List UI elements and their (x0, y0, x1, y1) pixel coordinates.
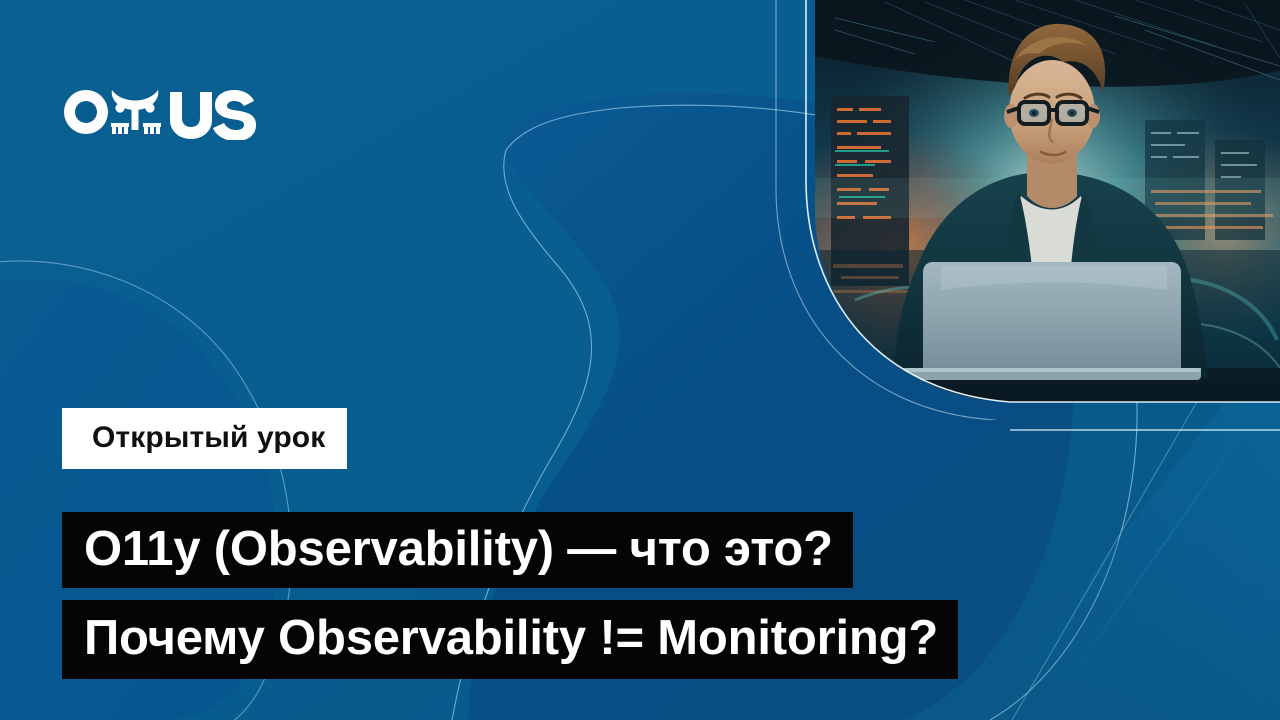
hero-photo-artwork (815, 0, 1280, 402)
text-stack: Открытый урок O11y (Observability) — что… (62, 408, 1232, 679)
otus-logo-owl-mark (111, 90, 161, 134)
title-line-1: O11y (Observability) — что это? (62, 512, 853, 588)
slide-root: Открытый урок O11y (Observability) — что… (0, 0, 1280, 720)
otus-logo (62, 68, 262, 140)
otus-logo-letter-o (64, 90, 108, 134)
hero-photo (815, 0, 1280, 402)
title-line-2: Почему Observability != Monitoring? (62, 600, 958, 679)
otus-logo-letter-u (170, 92, 212, 139)
open-lesson-badge: Открытый урок (62, 408, 347, 469)
otus-logo-letter-s (213, 90, 256, 140)
